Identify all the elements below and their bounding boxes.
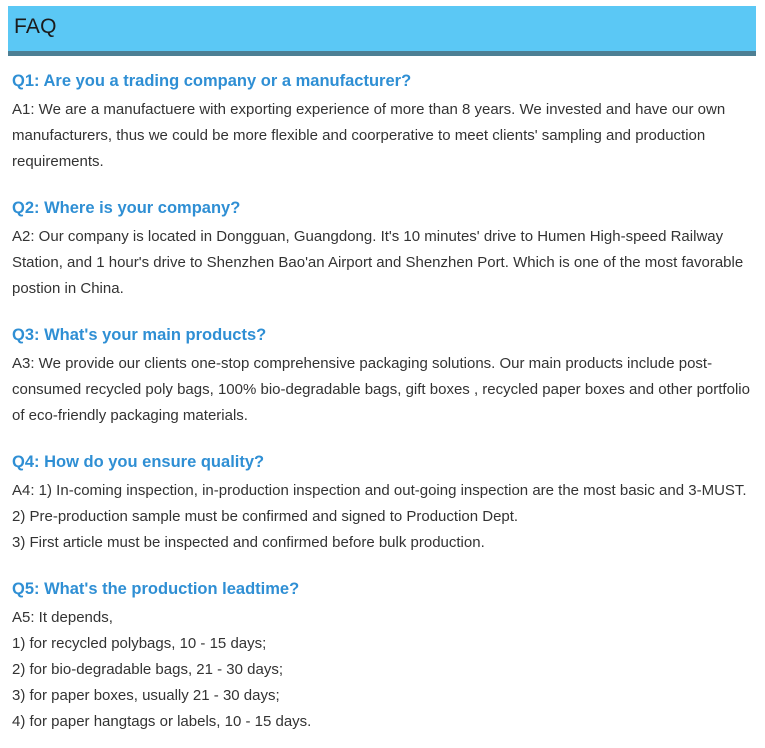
faq-answer-line: 2) Pre-production sample must be confirm… — [12, 504, 754, 530]
faq-answer-line: A4: 1) In-coming inspection, in-producti… — [12, 478, 754, 504]
faq-answer-line: 1) for recycled polybags, 10 - 15 days; — [12, 631, 754, 657]
faq-question: Q1: Are you a trading company or a manuf… — [12, 70, 754, 93]
faq-banner: FAQ — [8, 6, 756, 56]
faq-question: Q3: What's your main products? — [12, 324, 754, 347]
faq-answer-line: A5: It depends, — [12, 605, 754, 631]
faq-answer-line: 2) for bio-degradable bags, 21 - 30 days… — [12, 657, 754, 683]
faq-page: FAQ Q1: Are you a trading company or a m… — [0, 0, 765, 748]
faq-item: Q3: What's your main products?A3: We pro… — [12, 324, 754, 429]
faq-item: Q5: What's the production leadtime?A5: I… — [12, 578, 754, 735]
faq-item: Q4: How do you ensure quality?A4: 1) In-… — [12, 451, 754, 556]
faq-answer-line: 3) for paper boxes, usually 21 - 30 days… — [12, 683, 754, 709]
faq-question: Q5: What's the production leadtime? — [12, 578, 754, 601]
faq-answer-line: 3) First article must be inspected and c… — [12, 530, 754, 556]
faq-answer-lines: A4: 1) In-coming inspection, in-producti… — [12, 478, 754, 556]
faq-list: Q1: Are you a trading company or a manuf… — [12, 70, 754, 735]
faq-item: Q2: Where is your company?A2: Our compan… — [12, 197, 754, 302]
faq-item: Q1: Are you a trading company or a manuf… — [12, 70, 754, 175]
faq-answer: A1: We are a manufactuere with exporting… — [12, 97, 754, 175]
faq-answer-lines: A5: It depends,1) for recycled polybags,… — [12, 605, 754, 735]
faq-question: Q2: Where is your company? — [12, 197, 754, 220]
faq-answer-line: 4) for paper hangtags or labels, 10 - 15… — [12, 709, 754, 735]
faq-answer: A3: We provide our clients one-stop comp… — [12, 351, 754, 429]
faq-question: Q4: How do you ensure quality? — [12, 451, 754, 474]
faq-answer: A2: Our company is located in Dongguan, … — [12, 224, 754, 302]
page-title: FAQ — [14, 13, 57, 41]
